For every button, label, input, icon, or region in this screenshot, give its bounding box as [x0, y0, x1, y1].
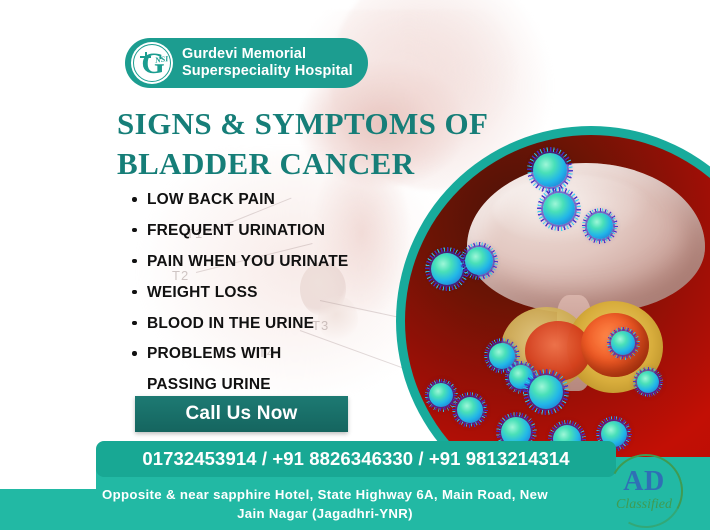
list-item: PROBLEMS WITH PASSING URINE [130, 344, 430, 394]
virus-particle-icon [457, 397, 483, 423]
list-item: FREQUENT URINATION [130, 221, 430, 240]
symptom-text: WEIGHT LOSS [147, 284, 258, 301]
headline-line2: BLADDER CANCER [117, 144, 537, 184]
contact-footer: 01732453914 / +91 8826346330 / +91 98132… [0, 457, 710, 530]
virus-particle-icon [611, 331, 635, 355]
list-item: LOW BACK PAIN [130, 190, 430, 209]
symptom-text: PAIN WHEN YOU URINATE [147, 253, 348, 270]
hospital-name-line2: Superspeciality Hospital [182, 63, 353, 80]
virus-particle-icon [529, 375, 563, 409]
virus-particle-icon [587, 213, 613, 239]
headline-line1: SIGNS & SYMPTOMS OF [117, 104, 537, 144]
logo-monogram-mark: NSI [154, 54, 168, 65]
symptom-text-continued: PASSING URINE [147, 375, 430, 394]
page-title: SIGNS & SYMPTOMS OF BLADDER CANCER [117, 104, 537, 183]
hospital-logo[interactable]: G NSI Gurdevi Memorial Superspeciality H… [125, 38, 368, 88]
virus-particle-icon [543, 193, 575, 225]
bullet-dot-icon [132, 321, 137, 326]
phone-numbers[interactable]: 01732453914 / +91 8826346330 / +91 98132… [96, 441, 616, 477]
hospital-name: Gurdevi Memorial Superspeciality Hospita… [182, 46, 353, 80]
hospital-name-line1: Gurdevi Memorial [182, 46, 353, 63]
bullet-dot-icon [132, 197, 137, 202]
watermark-subtitle: Classified [605, 497, 683, 513]
virus-particle-icon [637, 371, 659, 393]
virus-particle-icon [465, 247, 493, 275]
medical-cross-icon [140, 52, 151, 68]
watermark-letters: AD [605, 466, 683, 498]
bullet-dot-icon [132, 228, 137, 233]
clinic-address: Opposite & near sapphire Hotel, State Hi… [60, 485, 590, 523]
bullet-dot-icon [132, 351, 137, 356]
hospital-monogram-icon: G NSI [131, 42, 173, 84]
virus-particle-icon [431, 253, 463, 285]
poster-canvas: T1 T2 T3 T4 [0, 0, 710, 530]
virus-particle-icon [533, 153, 567, 187]
address-line2: Jain Nagar (Jagadhri-YNR) [60, 504, 590, 523]
symptom-text: LOW BACK PAIN [147, 191, 275, 208]
symptom-text: FREQUENT URINATION [147, 222, 325, 239]
list-item: PAIN WHEN YOU URINATE [130, 252, 430, 271]
ad-classified-watermark: AD Classified [605, 452, 683, 526]
bullet-dot-icon [132, 290, 137, 295]
list-item: BLOOD IN THE URINE [130, 314, 430, 333]
symptom-list: LOW BACK PAIN FREQUENT URINATION PAIN WH… [130, 190, 430, 406]
symptom-text: BLOOD IN THE URINE [147, 315, 314, 332]
list-item: WEIGHT LOSS [130, 283, 430, 302]
symptom-text: PROBLEMS WITH [147, 345, 281, 362]
bullet-dot-icon [132, 259, 137, 264]
call-us-now-button[interactable]: Call Us Now [135, 396, 348, 432]
address-line1: Opposite & near sapphire Hotel, State Hi… [60, 485, 590, 504]
virus-particle-icon [429, 383, 453, 407]
